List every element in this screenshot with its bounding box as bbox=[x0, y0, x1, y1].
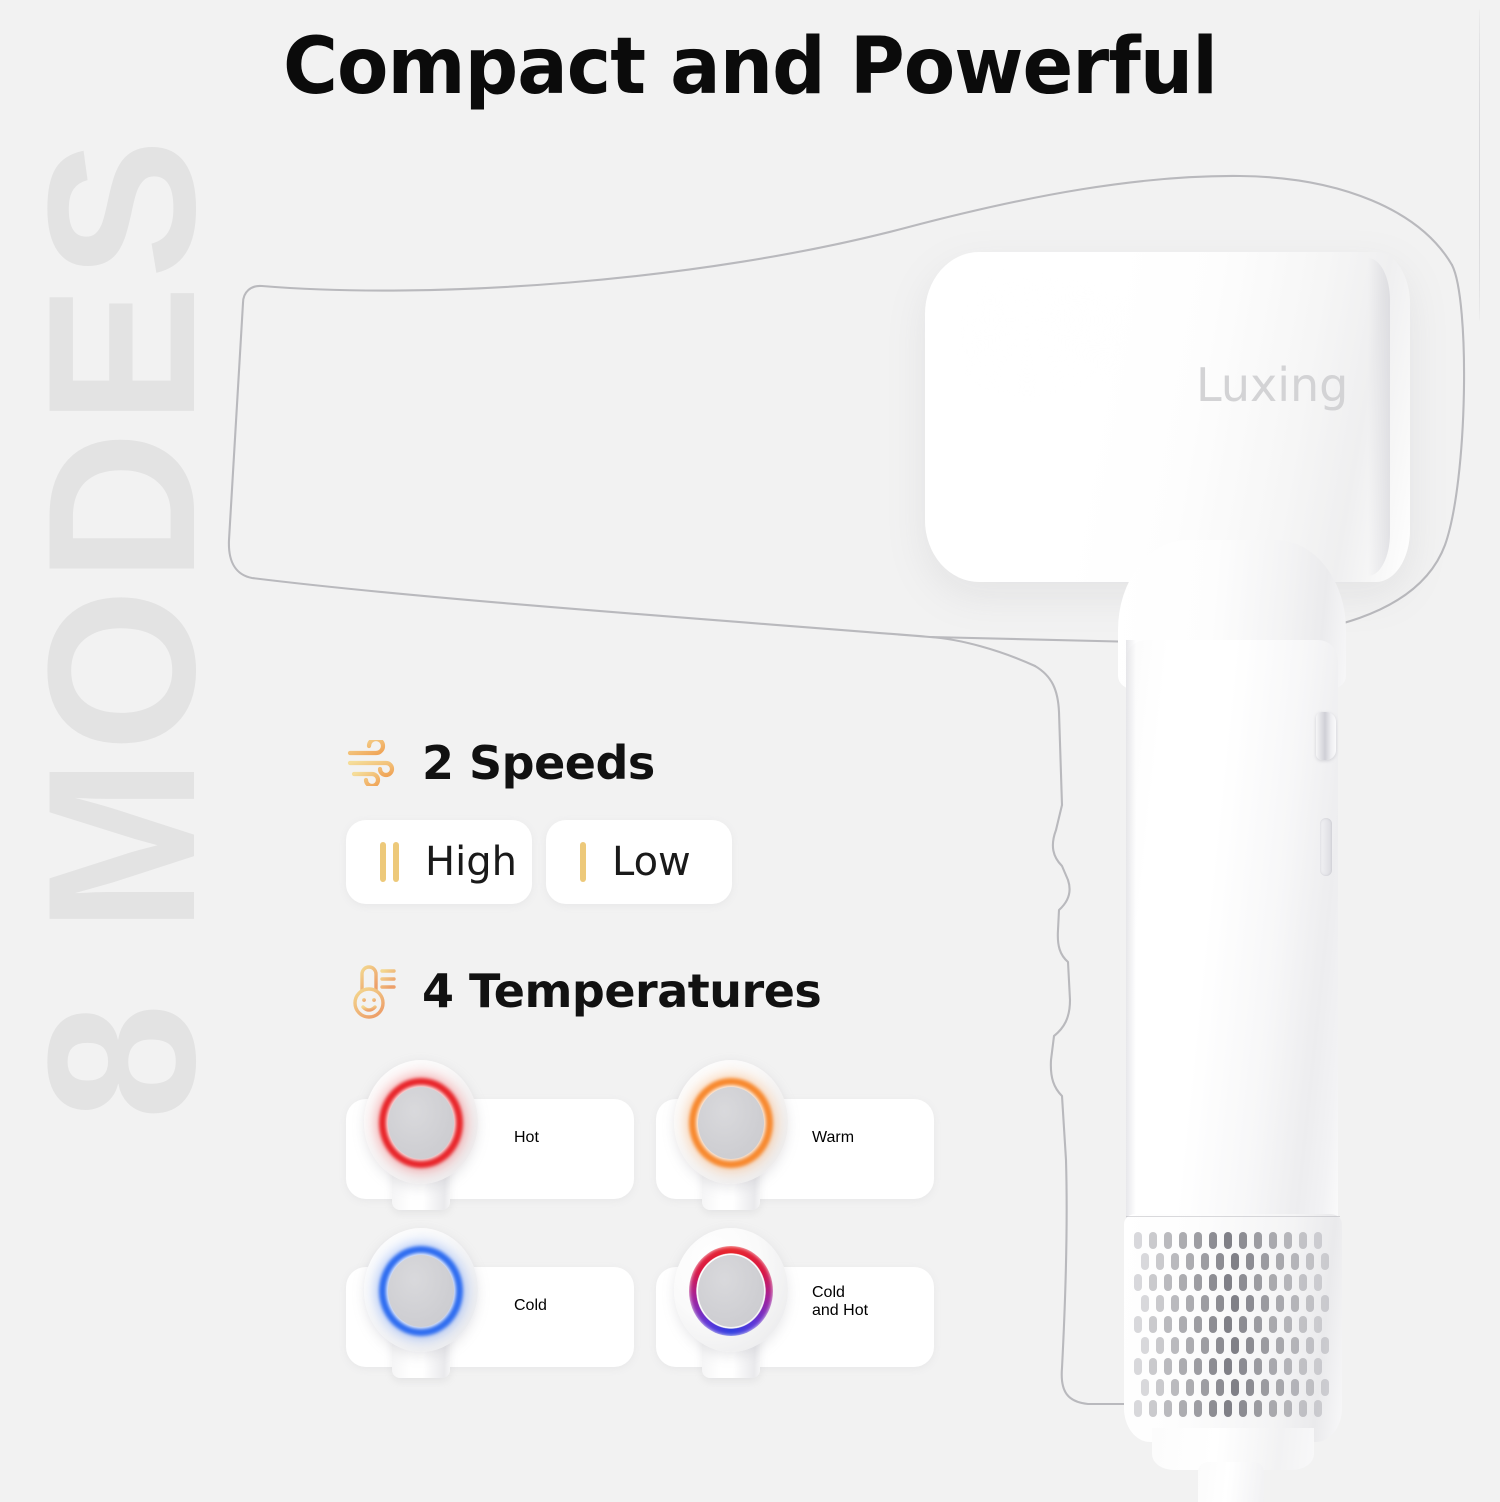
filter-seam-line bbox=[1126, 1216, 1340, 1217]
temperature-label-hot: Hot bbox=[514, 1129, 539, 1147]
power-button-icon bbox=[1316, 712, 1336, 760]
temperature-label-warm: Warm bbox=[812, 1129, 854, 1147]
head-cap bbox=[1368, 258, 1390, 576]
head-highlight bbox=[955, 278, 1135, 398]
power-cord-icon bbox=[1198, 1462, 1264, 1502]
speeds-section-header: 2 Speeds bbox=[346, 736, 655, 790]
speed-bars-low bbox=[580, 842, 586, 882]
nozzle-cold-icon bbox=[362, 1228, 480, 1378]
air-filter-grille-icon bbox=[1124, 1214, 1342, 1442]
temperatures-title: 4 Temperatures bbox=[422, 964, 821, 1018]
wind-icon bbox=[346, 740, 400, 786]
dryer-handle-icon bbox=[1126, 640, 1338, 1240]
nozzle-cold-and-hot-icon bbox=[672, 1228, 790, 1378]
speed-option-high[interactable]: High bbox=[346, 820, 532, 904]
speed-option-low[interactable]: Low bbox=[546, 820, 732, 904]
nozzle-warm-icon bbox=[672, 1060, 790, 1210]
handle-left-edge bbox=[1126, 640, 1136, 1240]
head-seam-line bbox=[1479, 9, 1480, 321]
speed-label-high: High bbox=[425, 839, 517, 885]
grille-pattern bbox=[1134, 1232, 1332, 1418]
mode-button-icon bbox=[1320, 818, 1332, 876]
speed-label-low: Low bbox=[612, 839, 691, 885]
dryer-head-icon bbox=[925, 252, 1410, 582]
label-line-1: Cold bbox=[812, 1284, 868, 1302]
speed-bars-high bbox=[380, 842, 399, 882]
brand-logo: Luxing bbox=[1196, 358, 1348, 412]
temperature-label-cold-and-hot: Cold and Hot bbox=[812, 1284, 868, 1320]
thermometer-icon bbox=[348, 962, 400, 1020]
temperature-label-cold: Cold bbox=[514, 1297, 547, 1315]
temperatures-section-header: 4 Temperatures bbox=[348, 962, 821, 1020]
speeds-title: 2 Speeds bbox=[422, 736, 655, 790]
label-line-2: and Hot bbox=[812, 1302, 868, 1320]
nozzle-hot-icon bbox=[362, 1060, 480, 1210]
